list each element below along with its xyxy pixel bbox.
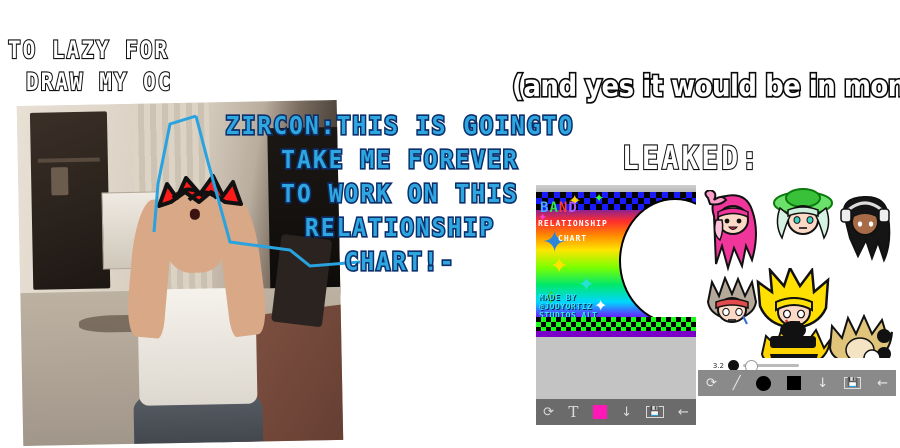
checker-border-bottom xyxy=(536,317,696,331)
brush-icon[interactable]: ╱ xyxy=(733,376,741,391)
chart-title-band: BAND xyxy=(540,200,578,216)
right-app-toolbar[interactable]: ⟳ ╱ ↓ 💾 ← xyxy=(698,370,896,396)
transform-icon[interactable]: ⟳ xyxy=(543,405,554,420)
empty-chart-circle xyxy=(619,198,696,324)
star-icon: ✦ xyxy=(578,274,595,294)
character-pink-haired-girl xyxy=(702,190,764,278)
band-letter-a: A xyxy=(549,200,558,216)
band-letter-d: D xyxy=(568,200,577,216)
chart-subtitle-relationship: RELATIONSHIP xyxy=(538,219,608,228)
character-black-hair-headphones xyxy=(836,192,894,268)
left-app-toolbar[interactable]: ⟳ T ↓ 💾 ← xyxy=(536,399,696,425)
star-icon: ✦ xyxy=(594,192,604,204)
save-icon[interactable]: 💾 xyxy=(844,377,861,389)
speech-line-4: RELATIONSHIP xyxy=(210,214,590,243)
relationship-chart-canvas[interactable]: ✦ ✦ ✦ ✦ ✦ ✦ ✦ ✦ BAND RELATIONSHIP CHART … xyxy=(536,192,696,337)
chart-subtitle-chart: CHART xyxy=(558,234,587,243)
photo-cabinet xyxy=(30,111,110,289)
characters-canvas[interactable] xyxy=(698,180,896,360)
text-tool-icon[interactable]: T xyxy=(568,403,578,421)
caption-too-lazy-line1: TO LAZY FOR xyxy=(8,36,169,64)
speech-line-3: TO WORK ON THIS xyxy=(210,180,590,209)
character-red-bandana xyxy=(704,276,760,336)
speech-line-5: CHART!- xyxy=(210,248,590,277)
photo-shelf-item xyxy=(51,167,68,196)
color-swatch-icon[interactable] xyxy=(593,405,607,419)
caption-too-lazy-line2: DRAW MY OC xyxy=(26,68,172,96)
meme-canvas: TO LAZY FOR DRAW MY OC (and yes it would… xyxy=(0,0,900,448)
star-icon: ✦ xyxy=(542,228,567,258)
credit-line-2: @JODYORTIZ xyxy=(539,302,597,311)
character-mint-hair-green-hat xyxy=(770,186,836,254)
drawing-app-screenshot-left: ✦ ✦ ✦ ✦ ✦ ✦ ✦ ✦ BAND RELATIONSHIP CHART … xyxy=(536,185,696,425)
transform-icon[interactable]: ⟳ xyxy=(706,376,717,391)
app-empty-workspace[interactable] xyxy=(536,337,696,399)
black-square-icon[interactable] xyxy=(787,376,801,390)
band-letter-n: N xyxy=(559,200,568,216)
speech-line-2: TAKE ME FOREVER xyxy=(210,146,590,175)
brush-size-slider[interactable] xyxy=(743,364,799,367)
credit-line-1: MADE BY xyxy=(539,293,597,302)
back-arrow-icon[interactable]: ← xyxy=(678,405,689,420)
chart-credit: MADE BY @JODYORTIZ STUDIOS ALT xyxy=(539,293,597,320)
save-icon[interactable]: 💾 xyxy=(646,406,663,418)
download-icon[interactable]: ↓ xyxy=(817,376,828,391)
black-color-dot-icon[interactable] xyxy=(756,376,771,391)
back-arrow-icon[interactable]: ← xyxy=(877,376,888,391)
speech-line-1: ZIRCON:THIS IS GOINGTO xyxy=(210,112,590,141)
download-icon[interactable]: ↓ xyxy=(621,405,632,420)
app-status-bar xyxy=(536,185,696,192)
leaked-label: LEAKED: xyxy=(622,139,761,177)
caption-monday: (and yes it would be in monday) xyxy=(512,70,900,104)
brush-size-value: 3.2 xyxy=(710,362,724,370)
photo-shelf xyxy=(38,157,100,162)
drawing-app-screenshot-right: 3.2 100 ⟳ ╱ ↓ 💾 ← xyxy=(698,180,896,428)
